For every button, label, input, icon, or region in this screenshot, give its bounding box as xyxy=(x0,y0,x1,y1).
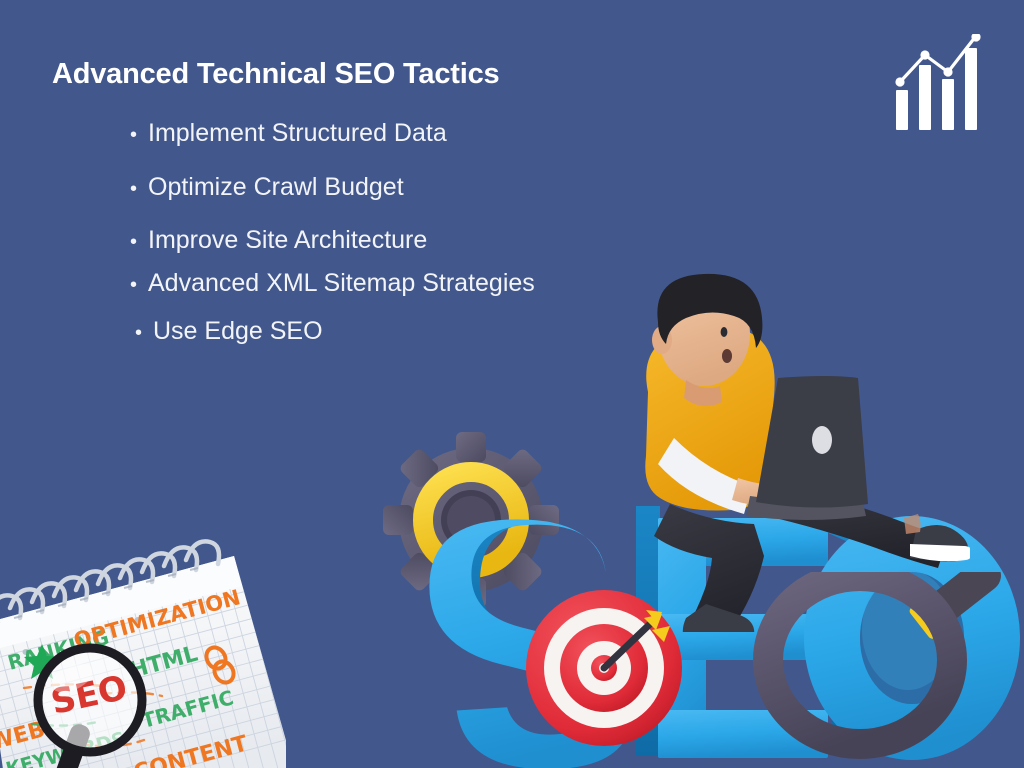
list-item: • Optimize Crawl Budget xyxy=(130,174,690,202)
seo-tactics-slide: Advanced Technical SEO Tactics • Impleme… xyxy=(0,0,1024,768)
list-item-label: Improve Site Architecture xyxy=(148,227,427,255)
bullet-marker-icon: • xyxy=(135,323,153,343)
list-item-label: Use Edge SEO xyxy=(153,318,323,346)
bullet-marker-icon: • xyxy=(130,275,148,295)
list-item-label: Advanced XML Sitemap Strategies xyxy=(148,270,535,298)
mouth xyxy=(722,349,732,363)
list-item-label: Optimize Crawl Budget xyxy=(148,174,404,202)
bullet-marker-icon: • xyxy=(130,179,148,199)
eye xyxy=(721,327,728,337)
bullet-marker-icon: • xyxy=(130,125,148,145)
person-with-laptop xyxy=(600,272,970,632)
seo-keywords-notepad: RANKING OPTIMIZATION HTML TRAFFIC WEB KE… xyxy=(0,528,286,768)
growth-bar-chart-logo xyxy=(890,34,982,130)
laptop-logo xyxy=(812,426,832,454)
list-item: • Implement Structured Data xyxy=(130,120,690,148)
list-item: • Improve Site Architecture xyxy=(130,227,690,255)
list-item-label: Implement Structured Data xyxy=(148,120,447,148)
page-title: Advanced Technical SEO Tactics xyxy=(52,58,499,91)
bullet-marker-icon: • xyxy=(130,232,148,252)
